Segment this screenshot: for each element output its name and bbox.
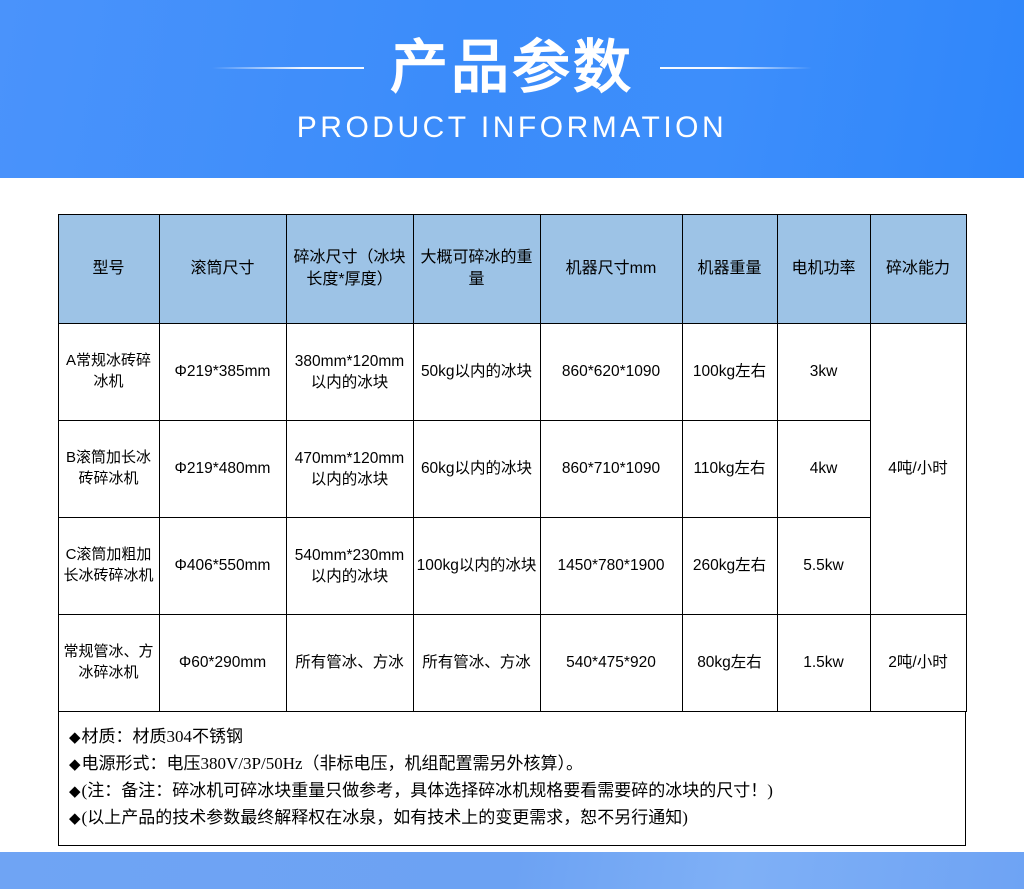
cell-ice-weight: 所有管冰、方冰 (413, 615, 540, 712)
cell-model: B滚筒加长冰砖碎冰机 (58, 421, 159, 518)
cell-machine-weight: 80kg左右 (682, 615, 777, 712)
cell-machine-weight: 110kg左右 (682, 421, 777, 518)
column-header-model: 型号 (58, 215, 159, 324)
column-header-capacity: 碎冰能力 (870, 215, 966, 324)
cell-ice-size: 540mm*230mm以内的冰块 (286, 518, 413, 615)
page-banner: 产品参数 PRODUCT INFORMATION (0, 0, 1024, 178)
diamond-bullet-icon: ◆ (69, 755, 81, 773)
column-header-motor-power: 电机功率 (777, 215, 870, 324)
column-header-ice-size: 碎冰尺寸（冰块长度*厚度） (286, 215, 413, 324)
note-line: ◆材质：材质304不锈钢 (69, 724, 955, 751)
cell-model: 常规管冰、方冰碎冰机 (58, 615, 159, 712)
cell-drum-size: Φ219*480mm (159, 421, 286, 518)
note-text: 材质：材质304不锈钢 (82, 727, 244, 746)
cell-motor-power: 5.5kw (777, 518, 870, 615)
diamond-bullet-icon: ◆ (69, 782, 81, 800)
cell-motor-power: 3kw (777, 324, 870, 421)
cell-drum-size: Φ219*385mm (159, 324, 286, 421)
cell-machine-size: 1450*780*1900 (540, 518, 682, 615)
table-row: A常规冰砖碎冰机 Φ219*385mm 380mm*120mm以内的冰块 50k… (58, 324, 966, 421)
bottom-color-band (0, 852, 1024, 889)
table-row: 常规管冰、方冰碎冰机 Φ60*290mm 所有管冰、方冰 所有管冰、方冰 540… (58, 615, 966, 712)
page-title: 产品参数 (390, 39, 634, 97)
cell-machine-size: 860*710*1090 (540, 421, 682, 518)
notes-box: ◆材质：材质304不锈钢 ◆电源形式：电压380V/3P/50Hz（非标电压，机… (58, 712, 966, 846)
spec-table-body: A常规冰砖碎冰机 Φ219*385mm 380mm*120mm以内的冰块 50k… (58, 324, 966, 712)
column-header-machine-weight: 机器重量 (682, 215, 777, 324)
cell-ice-weight: 60kg以内的冰块 (413, 421, 540, 518)
column-header-machine-size: 机器尺寸mm (540, 215, 682, 324)
cell-motor-power: 1.5kw (777, 615, 870, 712)
cell-model: A常规冰砖碎冰机 (58, 324, 159, 421)
note-line: ◆电源形式：电压380V/3P/50Hz（非标电压，机组配置需另外核算）。 (69, 751, 955, 778)
product-spec-table: 型号 滚筒尺寸 碎冰尺寸（冰块长度*厚度） 大概可碎冰的重量 机器尺寸mm 机器… (58, 214, 967, 712)
page-subtitle: PRODUCT INFORMATION (297, 111, 727, 145)
banner-rule-right (660, 67, 812, 69)
cell-ice-size: 380mm*120mm以内的冰块 (286, 324, 413, 421)
banner-title-row: 产品参数 (0, 39, 1024, 97)
note-line: ◆(注：备注：碎冰机可碎冰块重量只做参考，具体选择碎冰机规格要看需要碎的冰块的尺… (69, 778, 955, 805)
cell-machine-weight: 100kg左右 (682, 324, 777, 421)
cell-machine-weight: 260kg左右 (682, 518, 777, 615)
note-text: (注：备注：碎冰机可碎冰块重量只做参考，具体选择碎冰机规格要看需要碎的冰块的尺寸… (82, 781, 773, 800)
note-line: ◆(以上产品的技术参数最终解释权在冰泉，如有技术上的变更需求，恕不另行通知) (69, 805, 955, 832)
cell-motor-power: 4kw (777, 421, 870, 518)
column-header-ice-weight: 大概可碎冰的重量 (413, 215, 540, 324)
diamond-bullet-icon: ◆ (69, 728, 81, 746)
spec-table-wrap: 型号 滚筒尺寸 碎冰尺寸（冰块长度*厚度） 大概可碎冰的重量 机器尺寸mm 机器… (0, 178, 1024, 712)
cell-ice-weight: 50kg以内的冰块 (413, 324, 540, 421)
cell-capacity: 2吨/小时 (870, 615, 966, 712)
note-text: 电源形式：电压380V/3P/50Hz（非标电压，机组配置需另外核算）。 (82, 754, 584, 773)
diamond-bullet-icon: ◆ (69, 809, 81, 827)
column-header-drum-size: 滚筒尺寸 (159, 215, 286, 324)
cell-machine-size: 860*620*1090 (540, 324, 682, 421)
cell-ice-size: 470mm*120mm以内的冰块 (286, 421, 413, 518)
cell-ice-weight: 100kg以内的冰块 (413, 518, 540, 615)
product-information-page: 产品参数 PRODUCT INFORMATION 型号 滚筒尺寸 碎冰尺寸（冰块… (0, 0, 1024, 889)
cell-drum-size: Φ60*290mm (159, 615, 286, 712)
spec-table-head: 型号 滚筒尺寸 碎冰尺寸（冰块长度*厚度） 大概可碎冰的重量 机器尺寸mm 机器… (58, 215, 966, 324)
table-row: B滚筒加长冰砖碎冰机 Φ219*480mm 470mm*120mm以内的冰块 6… (58, 421, 966, 518)
note-text: (以上产品的技术参数最终解释权在冰泉，如有技术上的变更需求，恕不另行通知) (82, 808, 688, 827)
table-row: C滚筒加粗加长冰砖碎冰机 Φ406*550mm 540mm*230mm以内的冰块… (58, 518, 966, 615)
cell-ice-size: 所有管冰、方冰 (286, 615, 413, 712)
cell-model: C滚筒加粗加长冰砖碎冰机 (58, 518, 159, 615)
cell-machine-size: 540*475*920 (540, 615, 682, 712)
cell-capacity: 4吨/小时 (870, 324, 966, 615)
banner-rule-left (212, 67, 364, 69)
table-header-row: 型号 滚筒尺寸 碎冰尺寸（冰块长度*厚度） 大概可碎冰的重量 机器尺寸mm 机器… (58, 215, 966, 324)
cell-drum-size: Φ406*550mm (159, 518, 286, 615)
